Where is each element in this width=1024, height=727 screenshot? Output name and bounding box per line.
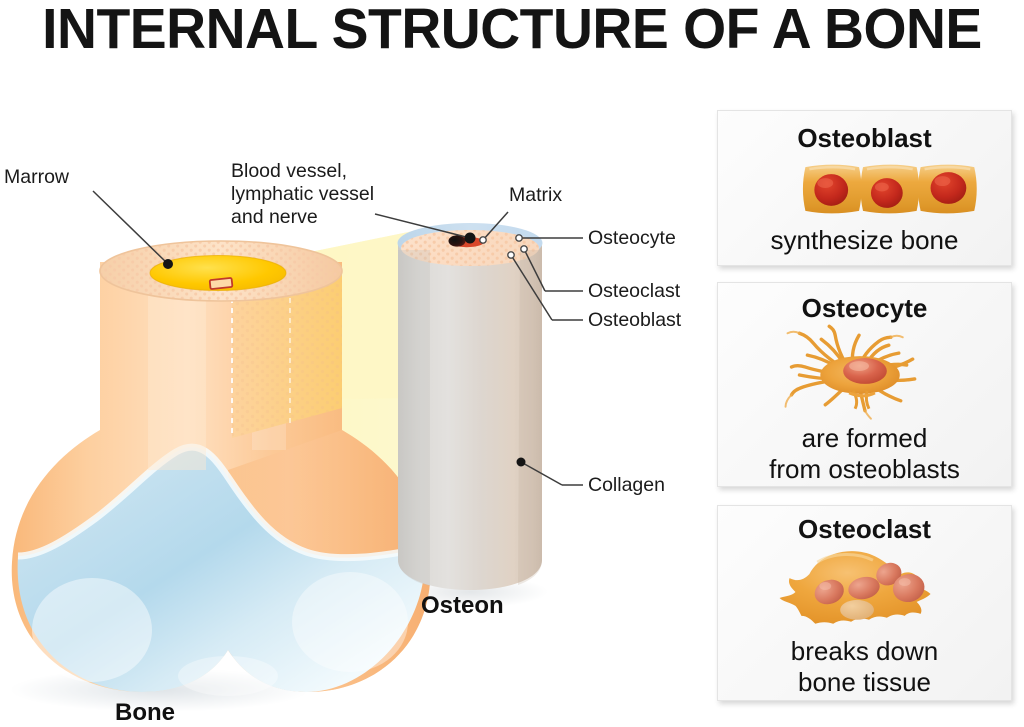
osteocyte-cell-icon <box>718 323 1011 423</box>
osteoclast-cell-icon <box>718 544 1011 636</box>
card-osteocyte-desc: are formed from osteoblasts <box>718 423 1011 485</box>
osteocyte-marker <box>516 235 522 241</box>
label-marrow: Marrow <box>4 166 69 189</box>
card-osteoblast-desc: synthesize bone <box>718 225 1011 256</box>
card-osteocyte[interactable]: Osteocyte <box>717 282 1012 487</box>
label-osteoblast: Osteoblast <box>588 309 681 332</box>
caption-osteon: Osteon <box>421 592 504 620</box>
card-osteoblast[interactable]: Osteoblast <box>717 110 1012 266</box>
diagram-canvas: INTERNAL STRUCTURE OF A BONE <box>0 0 1024 724</box>
matrix-marker <box>480 237 486 243</box>
collagen-dot <box>517 458 526 467</box>
label-osteoclast: Osteoclast <box>588 280 680 303</box>
label-osteocyte: Osteocyte <box>588 227 676 250</box>
label-collagen: Collagen <box>588 474 665 497</box>
label-blood-vessel: Blood vessel, lymphatic vessel and nerve <box>231 160 374 229</box>
card-osteoclast[interactable]: Osteoclast <box>717 505 1012 701</box>
osteon-illustration <box>398 223 543 590</box>
card-osteoclast-title: Osteoclast <box>718 514 1011 545</box>
blood-vessel-marker <box>210 278 233 289</box>
blood-vessel-dot <box>465 233 476 244</box>
marrow-dot <box>163 259 173 269</box>
osteoblast-marker <box>508 252 514 258</box>
card-osteocyte-title: Osteocyte <box>718 293 1011 324</box>
label-matrix: Matrix <box>509 184 562 207</box>
caption-bone: Bone <box>115 699 175 727</box>
card-osteoclast-desc: breaks down bone tissue <box>718 636 1011 698</box>
card-osteoblast-title: Osteoblast <box>718 123 1011 154</box>
osteoclast-marker <box>521 246 527 252</box>
osteoblast-cells-icon <box>718 157 1011 221</box>
